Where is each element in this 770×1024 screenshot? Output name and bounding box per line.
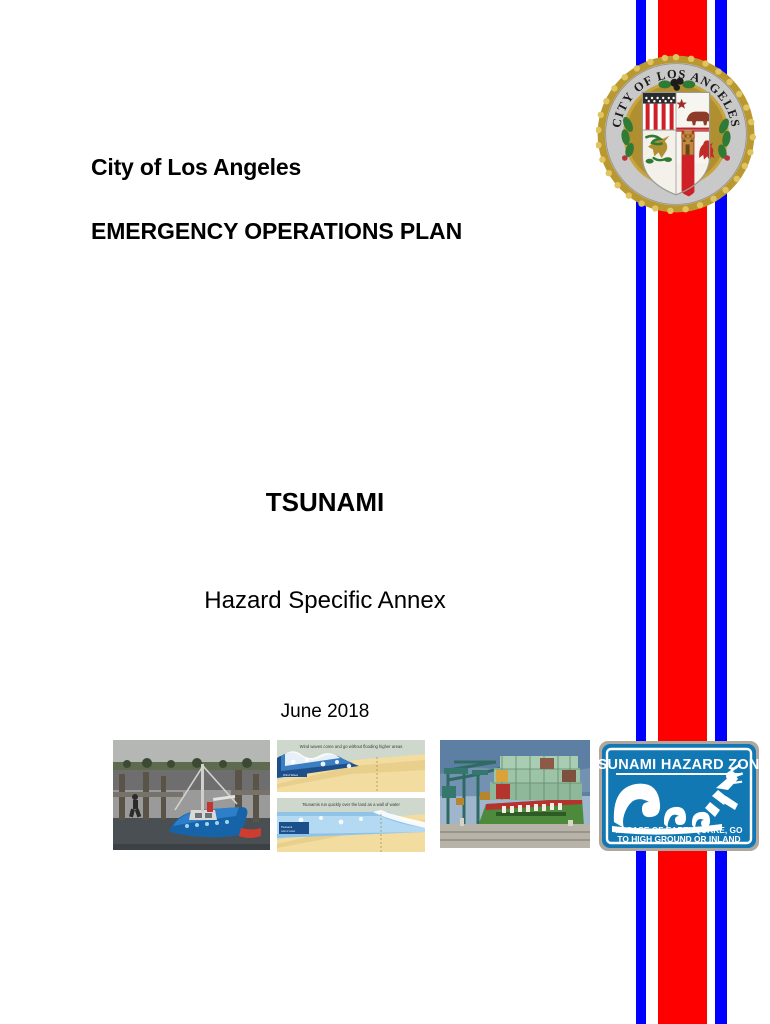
svg-text:Tsunami: Tsunami [281,825,293,829]
sign-instruction-line-2: TO HIGH GROUND OR INLAND [617,834,740,844]
document-date: June 2018 [0,701,650,723]
document-subtitle: Hazard Specific Annex [0,587,650,615]
container-ship-at-port-photo [440,740,590,848]
svg-text:wall of water: wall of water [281,829,296,833]
hazard-name-title: TSUNAMI [0,487,650,518]
svg-text:Wind Wave: Wind Wave [283,773,299,777]
document-cover-page: CITY OF LOS ANGELES FOUNDED 1781 [0,0,770,1024]
diagram-top-caption: Wind waves come and go without flooding … [300,744,403,749]
plan-title: EMERGENCY OPERATIONS PLAN [91,218,462,245]
grounded-fishing-boat-photo [113,740,270,850]
diagram-bottom-caption: Tsunamis run quickly over the land as a … [302,802,400,807]
tsunami-hazard-zone-sign: TSUNAMI HAZARD ZONE [598,740,760,852]
city-of-los-angeles-seal: CITY OF LOS ANGELES FOUNDED 1781 [596,54,756,214]
sign-heading-text: TSUNAMI HAZARD ZONE [598,757,760,773]
organization-title: City of Los Angeles [91,154,301,181]
wave-versus-tsunami-diagram: Wind waves come and go without flooding … [277,740,425,852]
cover-image-strip: Wind waves come and go without flooding … [0,740,770,852]
